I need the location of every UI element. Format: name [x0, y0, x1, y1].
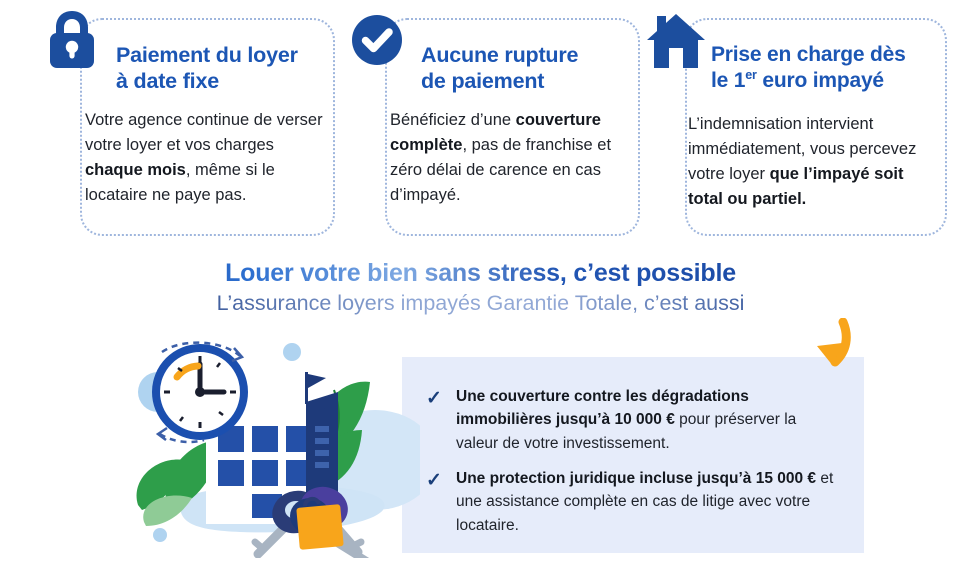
benefit-item: ✓ Une couverture contre les dégradations… [426, 385, 842, 455]
check-icon: ✓ [426, 467, 448, 495]
clock-building-keys-illustration [120, 330, 420, 558]
card-body: Bénéficiez d’une couverture complète, pa… [389, 108, 630, 208]
feature-card-prise-en-charge: Prise en charge dèsle 1er euro impayé L’… [685, 18, 947, 236]
curved-down-arrow-icon [795, 318, 865, 390]
page-subheadline: L’assurance loyers impayés Garantie Tota… [0, 290, 961, 318]
card-title: Paiement du loyerà date fixe [116, 42, 323, 94]
benefit-item: ✓ Une protection juridique incluse jusqu… [426, 467, 842, 537]
feature-card-paiement-date-fixe: Paiement du loyerà date fixe Votre agenc… [80, 18, 335, 236]
benefit-text: Une couverture contre les dégradations i… [456, 385, 842, 455]
check-icon: ✓ [426, 385, 448, 413]
feature-cards-row: Paiement du loyerà date fixe Votre agenc… [0, 0, 961, 250]
headline-block: Louer votre bien sans stress, c’est poss… [0, 258, 961, 318]
card-title: Aucune rupturede paiement [421, 42, 628, 94]
card-title: Prise en charge dèsle 1er euro impayé [711, 42, 935, 93]
page-headline: Louer votre bien sans stress, c’est poss… [0, 258, 961, 289]
circle-check-icon [349, 8, 405, 70]
card-body: Votre agence continue de verser votre lo… [84, 108, 325, 208]
benefit-text: Une protection juridique incluse jusqu’à… [456, 467, 842, 537]
house-icon [645, 10, 707, 72]
feature-card-aucune-rupture: Aucune rupturede paiement Bénéficiez d’u… [385, 18, 640, 236]
card-body: L’indemnisation intervient immédiatement… [687, 112, 937, 212]
padlock-icon [44, 8, 100, 70]
